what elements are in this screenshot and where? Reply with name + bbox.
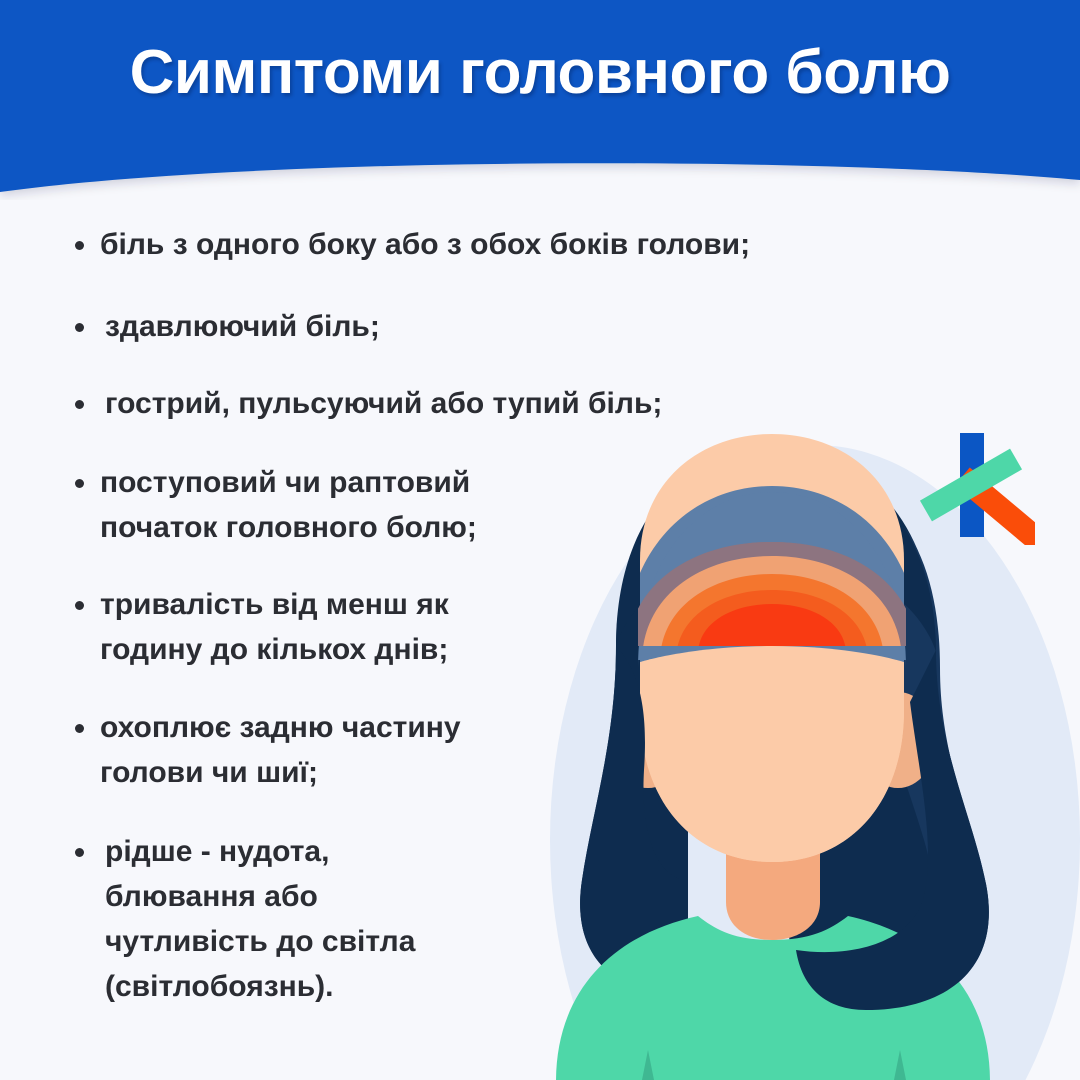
symptom-text: біль з одного боку або з обох боків голо… (100, 222, 820, 267)
symptom-text: тривалість від менш як годину до кількох… (100, 582, 820, 672)
asterisk-logo (905, 425, 1035, 545)
symptom-text: охоплює задню частину голови чи шиї; (100, 705, 820, 795)
symptom-text: рідше - нудота, блювання або чутливість … (105, 829, 820, 1009)
symptom-text: гострий, пульсуючий або тупий біль; (105, 381, 820, 426)
symptom-text: здавлюючий біль; (105, 304, 820, 349)
bullet-icon (75, 323, 84, 332)
bullet-icon (75, 479, 84, 488)
bullet-icon (75, 601, 84, 610)
asterisk-logo-svg (905, 425, 1035, 545)
symptom-list-item: рідше - нудота, блювання або чутливість … (60, 829, 820, 1009)
bullet-icon (75, 400, 84, 409)
symptom-list-item: поступовий чи раптовий початок головного… (60, 460, 820, 550)
symptom-list-item: здавлюючий біль; (60, 304, 820, 349)
infographic-poster: Симптоми головного болю (0, 0, 1080, 1080)
bullet-icon (75, 724, 84, 733)
header-banner: Симптоми головного болю (0, 0, 1080, 200)
symptom-list-item: біль з одного боку або з обох боків голо… (60, 222, 820, 267)
bullet-icon (75, 848, 84, 857)
page-title: Симптоми головного болю (0, 38, 1080, 108)
symptom-list-item: охоплює задню частину голови чи шиї; (60, 705, 820, 795)
symptom-list-item: тривалість від менш як годину до кількох… (60, 582, 820, 672)
symptom-text: поступовий чи раптовий початок головного… (100, 460, 820, 550)
symptom-list-item: гострий, пульсуючий або тупий біль; (60, 381, 820, 426)
bullet-icon (75, 241, 84, 250)
symptom-list: біль з одного боку або з обох боків голо… (60, 222, 820, 1009)
